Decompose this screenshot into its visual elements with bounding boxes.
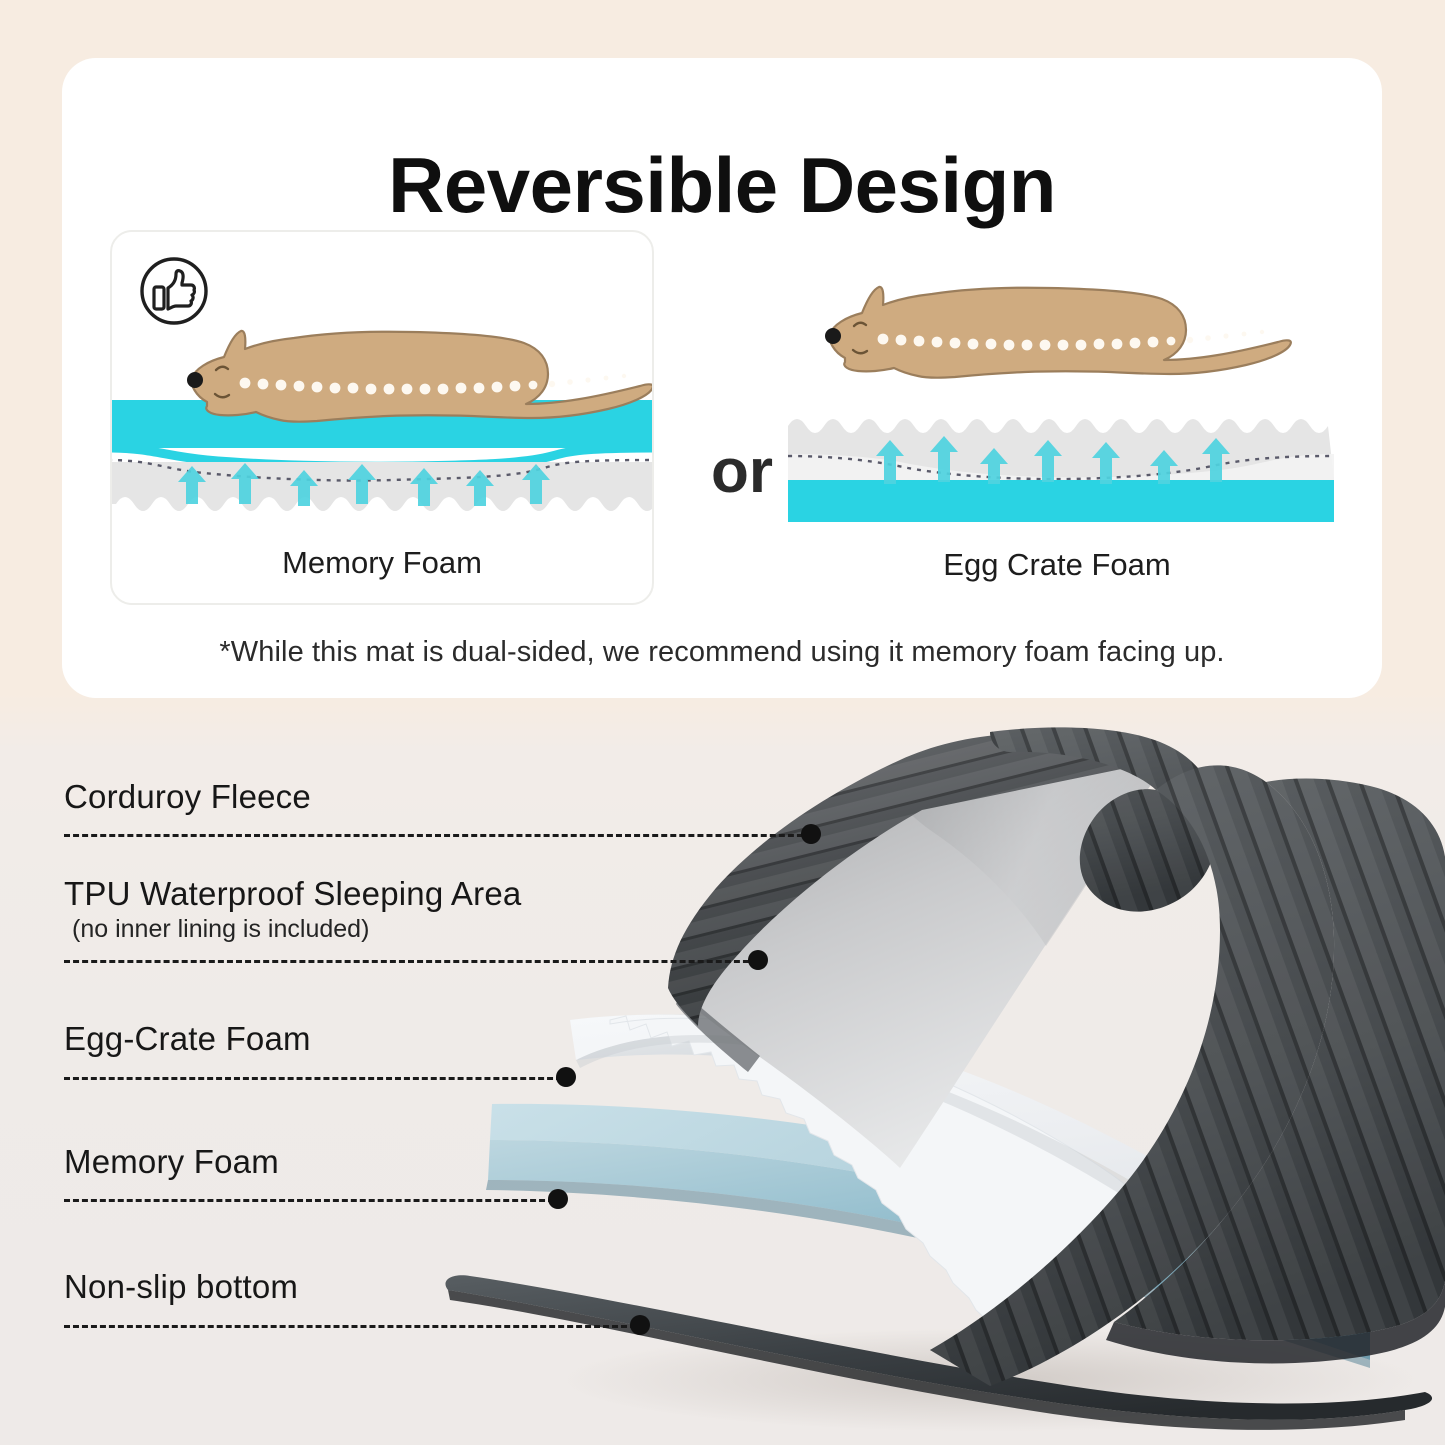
dog-illustration: [187, 331, 652, 422]
callout-label-0: Corduroy Fleece: [64, 778, 311, 817]
callout-label-1: TPU Waterproof Sleeping Area: [64, 875, 521, 914]
leader-dot-0: [801, 824, 821, 844]
leader-dot-2: [556, 1067, 576, 1087]
callout-label-4: Non-slip bottom: [64, 1268, 298, 1307]
footnote-text: *While this mat is dual-sided, we recomm…: [62, 636, 1382, 669]
thumbs-up-icon: [138, 255, 210, 327]
product-photo-layered-mat: [430, 720, 1445, 1445]
reversible-design-card: Reversible Design: [62, 58, 1382, 698]
callout-memory-foam: Memory Foam: [64, 1143, 279, 1182]
dog-nose-right: [825, 328, 841, 344]
leader-dot-1: [748, 950, 768, 970]
callout-tpu-waterproof: TPU Waterproof Sleeping Area (no inner l…: [64, 875, 521, 945]
panel-memory-foam: Memory Foam: [110, 230, 654, 605]
memory-foam-cyan-layer-right: [788, 480, 1334, 522]
callout-egg-crate-foam: Egg-Crate Foam: [64, 1020, 311, 1059]
callout-label-2: Egg-Crate Foam: [64, 1020, 311, 1059]
leader-line-3: [64, 1199, 554, 1202]
callout-sub-1: (no inner lining is included): [64, 914, 521, 945]
leader-line-4: [64, 1325, 636, 1328]
dog-illustration-right: [825, 287, 1291, 378]
leader-line-0: [64, 834, 812, 837]
callout-label-3: Memory Foam: [64, 1143, 279, 1182]
egg-crate-illustration: [780, 230, 1334, 550]
leader-dot-3: [548, 1189, 568, 1209]
callout-non-slip-bottom: Non-slip bottom: [64, 1268, 298, 1307]
panel-caption-memory-foam: Memory Foam: [112, 545, 652, 581]
leader-line-1: [64, 960, 758, 963]
dog-nose: [187, 372, 203, 388]
leader-dot-4: [630, 1315, 650, 1335]
panel-caption-egg-crate: Egg Crate Foam: [780, 547, 1334, 583]
leader-line-2: [64, 1077, 562, 1080]
infographic-root: Reversible Design: [0, 0, 1445, 1445]
page-title: Reversible Design: [62, 146, 1382, 224]
panel-egg-crate-foam: Egg Crate Foam: [780, 230, 1334, 605]
callout-corduroy-fleece: Corduroy Fleece: [64, 778, 311, 817]
